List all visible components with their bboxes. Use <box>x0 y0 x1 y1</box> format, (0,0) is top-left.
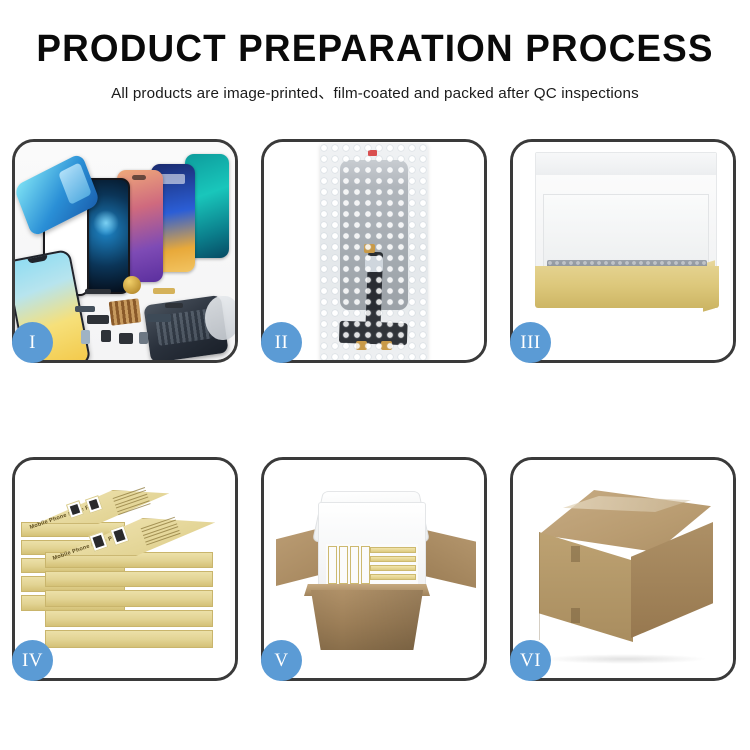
step-panel-6[interactable]: VI <box>510 457 736 681</box>
yellow-box-h-2 <box>370 556 416 562</box>
bubble-wrap-bag <box>320 144 428 360</box>
part-speaker <box>119 333 133 344</box>
carton-seam-lower <box>571 608 580 623</box>
step-badge-4: IV <box>12 640 53 681</box>
page-header: PRODUCT PREPARATION PROCESS All products… <box>0 0 750 103</box>
gold-tab-top <box>364 244 375 253</box>
step-panel-2[interactable]: II <box>261 139 487 363</box>
box-stack: Mobile Phone Spare Parts Mobile Phone Sp… <box>15 460 235 678</box>
yellow-box-v-2 <box>339 546 348 584</box>
kraft-tray-base <box>535 266 719 308</box>
step-panel-1[interactable]: I <box>12 139 238 363</box>
yellow-box-v-1 <box>328 546 337 584</box>
page-subtitle: All products are image-printed、film-coat… <box>0 81 750 103</box>
yellow-boxes-group <box>326 544 418 586</box>
carton-flap-right <box>426 530 476 588</box>
step-badge-5: V <box>261 640 302 681</box>
chip-array-icon <box>109 298 142 325</box>
yellow-box-h-4 <box>370 574 416 580</box>
part-sim-tray <box>139 332 148 344</box>
stacked-box-fr-2 <box>45 571 213 587</box>
screen-connector <box>365 256 383 272</box>
speaker-coil-icon <box>123 276 141 294</box>
part-battery-tab <box>81 330 90 344</box>
yellow-box-h-3 <box>370 565 416 571</box>
page-title: PRODUCT PREPARATION PROCESS <box>11 30 739 70</box>
carton-body <box>306 590 428 650</box>
part-volume-flex <box>75 306 95 312</box>
yellow-box-v-4 <box>361 546 370 584</box>
stacked-box-fr-3 <box>45 590 213 607</box>
yellow-box-v-3 <box>350 546 359 584</box>
step-badge-3: III <box>510 322 551 363</box>
step-panel-5[interactable]: V <box>261 457 487 681</box>
process-steps-grid: I II III <box>12 139 738 681</box>
stacked-box-fr-5 <box>45 630 213 648</box>
step-image-6 <box>513 460 733 678</box>
step-badge-2: II <box>261 322 302 363</box>
step-image-1 <box>15 142 235 360</box>
part-gold-connector <box>153 288 175 294</box>
step-image-5 <box>264 460 484 678</box>
part-small-bracket <box>101 330 111 342</box>
step-image-3 <box>513 142 733 360</box>
step-image-4: Mobile Phone Spare Parts Mobile Phone Sp… <box>15 460 235 678</box>
carton-front-face <box>539 532 633 642</box>
carton-seam-upper <box>571 546 580 562</box>
hand-icon <box>205 296 235 340</box>
step-panel-4[interactable]: Mobile Phone Spare Parts Mobile Phone Sp… <box>12 457 238 681</box>
yellow-box-h-1 <box>370 547 416 553</box>
carton-edge-line <box>539 532 540 640</box>
gold-tab-right <box>381 341 392 350</box>
step-badge-1: I <box>12 322 53 363</box>
part-camera-module <box>147 314 171 322</box>
part-antenna-cable <box>165 303 183 308</box>
gold-tab-left <box>356 341 367 350</box>
part-button-flex <box>87 315 109 324</box>
step-image-2 <box>264 142 484 360</box>
red-qc-mark <box>368 150 377 156</box>
step-panel-3[interactable]: III <box>510 139 736 363</box>
stacked-box-fr-4 <box>45 610 213 627</box>
step-badge-6: VI <box>510 640 551 681</box>
part-flex-strip <box>85 289 111 294</box>
carton-shadow <box>543 654 707 664</box>
